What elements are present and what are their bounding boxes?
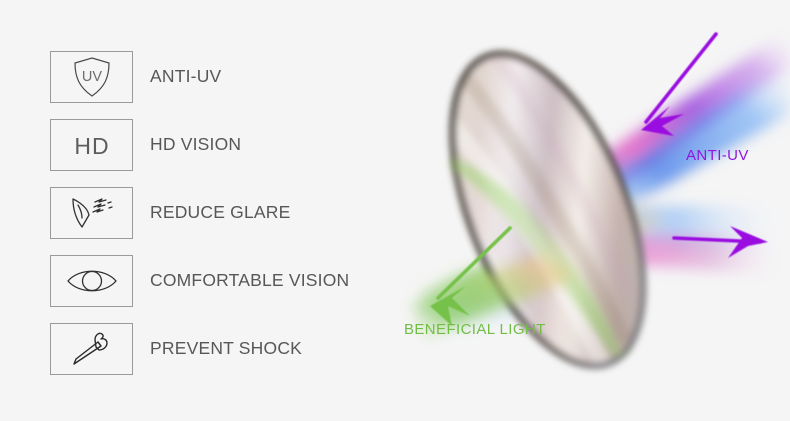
feature-row: REDUCE GLARE [50, 186, 390, 240]
feature-label-hd-vision: HD VISION [150, 136, 241, 154]
feature-row: HD HD VISION [50, 118, 390, 172]
feature-row: UV ANTI-UV [50, 50, 390, 104]
hammer-icon [68, 329, 116, 369]
icon-box-reduce-glare [50, 187, 133, 239]
icon-box-anti-uv: UV [50, 51, 133, 103]
icon-box-prevent-shock [50, 323, 133, 375]
uv-shield-icon: UV [69, 55, 115, 99]
anti-uv-beam-label: ANTI-UV [686, 148, 749, 163]
hd-icon: HD [68, 128, 116, 162]
icon-box-comfortable-vision [50, 255, 133, 307]
feature-row: PREVENT SHOCK [50, 322, 390, 376]
feature-row: COMFORTABLE VISION [50, 254, 390, 308]
hd-icon-text: HD [74, 133, 109, 159]
feature-list: UV ANTI-UV HD HD VISION [50, 50, 390, 376]
coated-lens-light-diagram [398, 10, 790, 410]
uv-shield-icon-text: UV [81, 69, 101, 85]
eye-icon [65, 264, 119, 298]
feature-label-prevent-shock: PREVENT SHOCK [150, 340, 302, 358]
feature-label-comfortable-vision: COMFORTABLE VISION [150, 272, 349, 290]
product-feature-graphic: UV ANTI-UV HD HD VISION [0, 0, 790, 421]
icon-box-hd-vision: HD [50, 119, 133, 171]
feature-label-reduce-glare: REDUCE GLARE [150, 204, 291, 222]
feature-label-anti-uv: ANTI-UV [150, 68, 221, 86]
glare-reduction-icon [67, 193, 117, 233]
beneficial-light-beam-label: BENEFICIAL LIGHT [404, 322, 546, 337]
